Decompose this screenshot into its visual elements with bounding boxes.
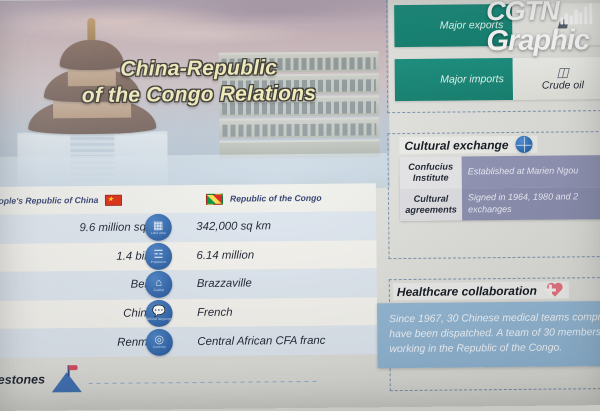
language-caption: Official language [147,318,172,322]
currency-caption: Currency [153,346,166,350]
infographic-poster: China-Republic of the Congo Relations Pe… [0,0,600,411]
china-flag [105,194,122,205]
major-exports-value-cell: ☗ [512,3,600,46]
right-column: Major exports ☗ Major imports ◫ Crude oi… [384,0,600,407]
country-comparison-table: People's Republic of China Republic of t… [0,183,377,359]
major-imports-value: Crude oil [542,79,584,91]
medical-cross-shape [545,285,556,296]
milestones-label: milestones [0,372,45,387]
country-label-china: People's Republic of China [0,194,122,206]
milestones-section: milestones [0,360,320,397]
cell-right-value: 342,000 sq km [196,221,271,234]
population-glyph: ☲ [154,248,164,260]
cell-key: Confucius Institute [400,156,462,189]
major-imports-row: Major imports ◫ Crude oil [395,57,600,101]
capital-icon: ⌂ Capital [145,271,172,298]
cultural-exchange-title: Cultural exchange [404,138,508,153]
healthcare-body-text: Since 1967, 30 Chinese medical teams com… [377,301,600,369]
globe-icon [515,136,532,153]
cell-right-value: French [197,307,233,319]
land-area-icon: ▦ Land area [145,214,172,241]
population-caption: Population [151,260,167,264]
country-name-congo: Republic of the Congo [230,193,322,204]
comparison-header-row: People's Republic of China Republic of t… [0,183,376,215]
milestones-dashed-connector [89,380,320,383]
cell-right-value: Brazzaville [197,278,252,291]
table-row: Confucius Institute Established at Marie… [400,155,600,189]
cell-value: Established at Marien Ngou [462,155,600,188]
page-title-line-1: China-Republic [21,55,377,83]
country-label-congo: Republic of the Congo [206,192,322,204]
land-area-caption: Land area [151,232,166,236]
funnel-icon: ☗ [556,17,568,30]
currency-icon: ◎ Currency [146,328,173,355]
population-icon: ☲ Population [145,243,172,270]
language-icon: 💬 Official language [145,300,172,327]
cultural-exchange-table: Confucius Institute Established at Marie… [400,155,600,221]
cell-right-value: Central African CFA franc [197,334,325,347]
table-row: 1.4 billion ☲ Population 6.14 million [0,240,377,272]
cell-right-value: 6.14 million [196,249,254,262]
capital-glyph: ⌂ [155,277,162,289]
summit-flag-shape [69,365,78,371]
page-title: China-Republic of the Congo Relations [21,55,377,109]
oil-barrel-icon: ◫ [557,65,569,78]
page-title-line-2: of the Congo Relations [21,81,377,109]
cultural-exchange-header: Cultural exchange [399,136,537,154]
major-imports-label: Major imports [395,58,513,101]
congo-flag [206,193,223,204]
cell-key: Cultural agreements [400,188,462,221]
healthcare-title: Healthcare collaboration [397,283,537,298]
country-name-china: People's Republic of China [0,195,98,206]
land-area-glyph: ▦ [153,220,164,232]
major-exports-label: Major exports [394,4,512,47]
mountain-flag-icon [52,366,82,392]
major-imports-value-cell: ◫ Crude oil [513,57,600,100]
table-row: Chinese 💬 Official language French [0,297,377,329]
heart-medical-icon [545,281,565,298]
currency-glyph: ◎ [154,334,164,346]
healthcare-header: Healthcare collaboration [393,281,569,300]
table-row: Beijing ⌂ Capital Brazzaville [0,268,377,300]
table-row: Cultural agreements Signed in 1964, 1980… [400,187,600,221]
cell-value: Signed in 1964, 1980 and 2 exchanges [462,187,600,220]
table-row: Renminbi ◎ Currency Central African CFA … [0,326,377,358]
capital-caption: Capital [154,289,164,293]
table-row: 9.6 million sq km ▦ Land area 342,000 sq… [0,211,376,243]
major-exports-row: Major exports ☗ [394,3,600,47]
hero-banner: China-Republic of the Congo Relations [0,0,390,191]
